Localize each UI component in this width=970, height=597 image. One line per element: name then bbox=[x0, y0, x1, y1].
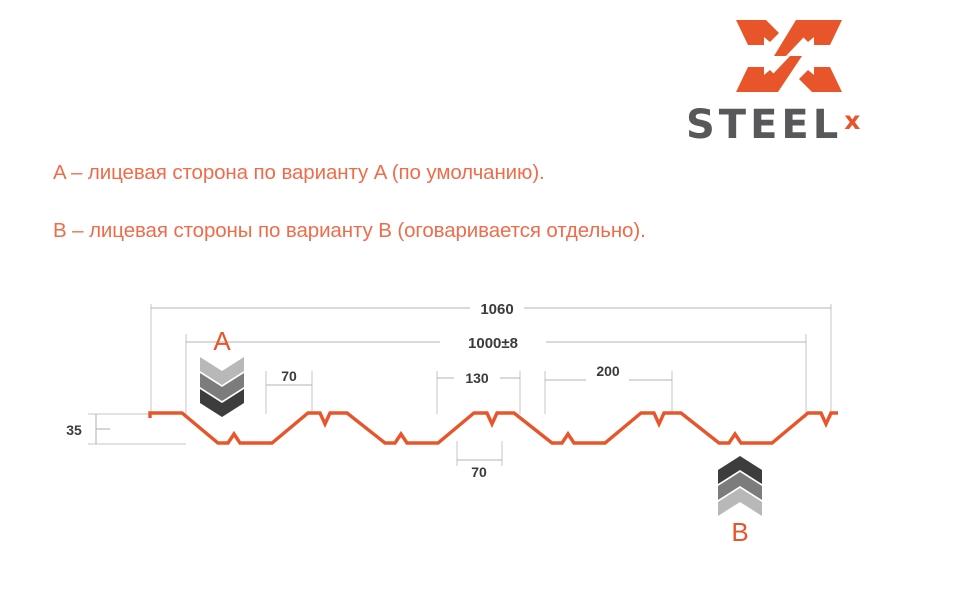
profile-outline bbox=[150, 413, 838, 443]
dim-profile-height: 35 bbox=[66, 422, 82, 438]
dim-useful-width: 1000±8 bbox=[468, 335, 518, 352]
marker-b-label: B bbox=[712, 518, 768, 546]
chevron-up-stack-icon bbox=[712, 456, 768, 518]
dim-bottom-valley-width: 70 bbox=[471, 464, 487, 480]
profile-cross-section-drawing: 1060 1000±8 70 130 200 70 35 bbox=[0, 0, 970, 597]
marker-a-label: A bbox=[194, 327, 250, 355]
dim-top-rib-width: 70 bbox=[281, 368, 297, 384]
direction-marker-b: B bbox=[712, 456, 768, 546]
dim-module-pitch: 200 bbox=[596, 363, 620, 379]
dimension-labels: 1060 1000±8 70 130 200 70 35 bbox=[66, 301, 620, 480]
dim-overall-width: 1060 bbox=[480, 301, 513, 318]
direction-marker-a: A bbox=[194, 327, 250, 417]
chevron-down-stack-icon bbox=[194, 355, 250, 417]
dim-rib-pitch: 130 bbox=[465, 370, 489, 386]
